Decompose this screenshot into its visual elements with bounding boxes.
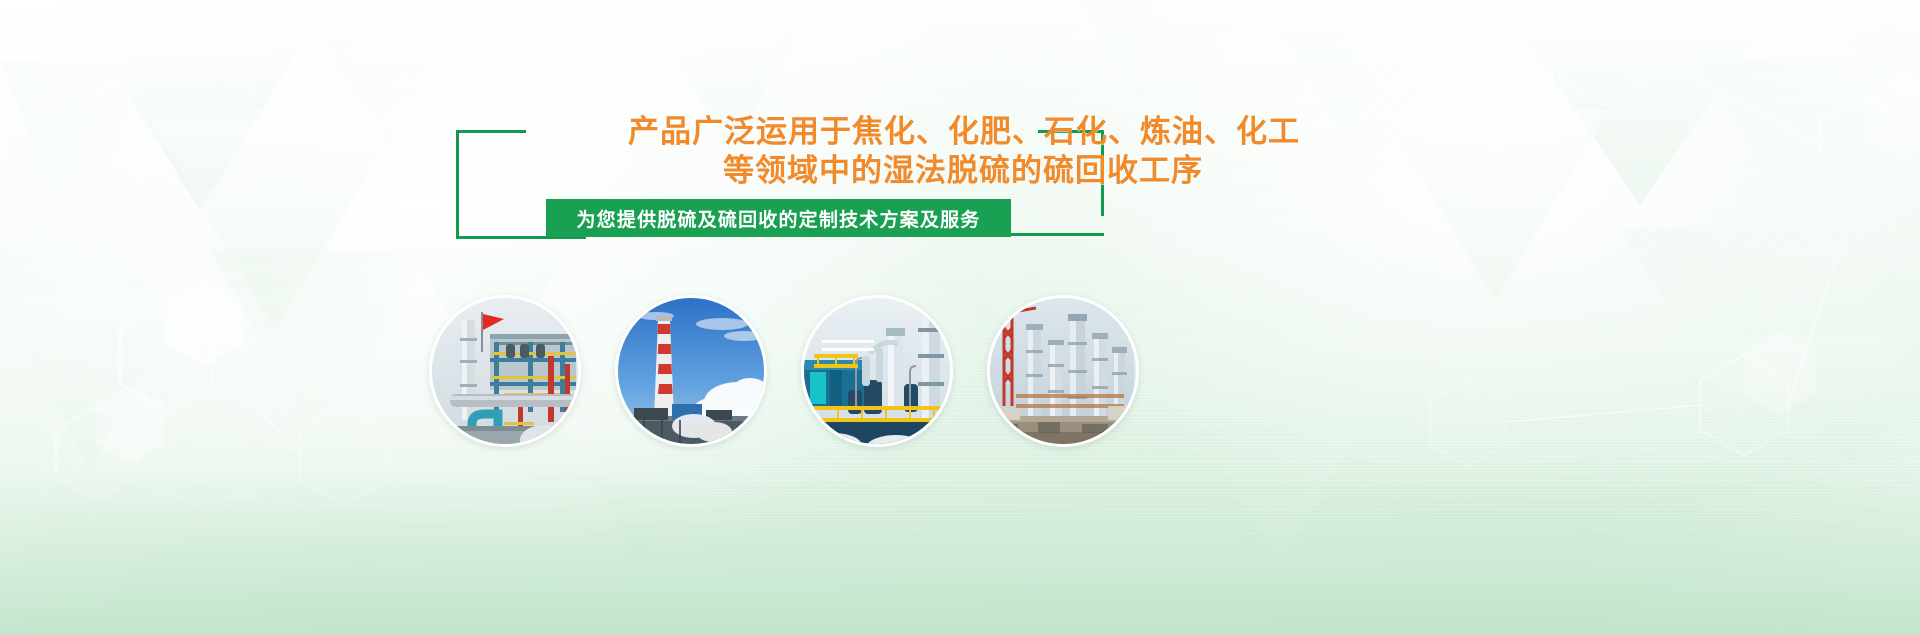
- photo-circle-1[interactable]: [429, 295, 581, 447]
- photo-circle-4[interactable]: [987, 295, 1139, 447]
- photo-circle-2[interactable]: [615, 295, 767, 447]
- banner-stage: 产品广泛运用于焦化、化肥、石化、炼油、化工 等领域中的湿法脱硫的硫回收工序 为您…: [0, 0, 1920, 635]
- distillation-tower-photo: [990, 298, 1136, 444]
- industrial-plant-photo: [432, 298, 578, 444]
- refinery-tanks-photo: [804, 298, 950, 444]
- photo-circle-group: [0, 0, 1920, 635]
- smokestack-photo: [618, 298, 764, 444]
- photo-circle-3[interactable]: [801, 295, 953, 447]
